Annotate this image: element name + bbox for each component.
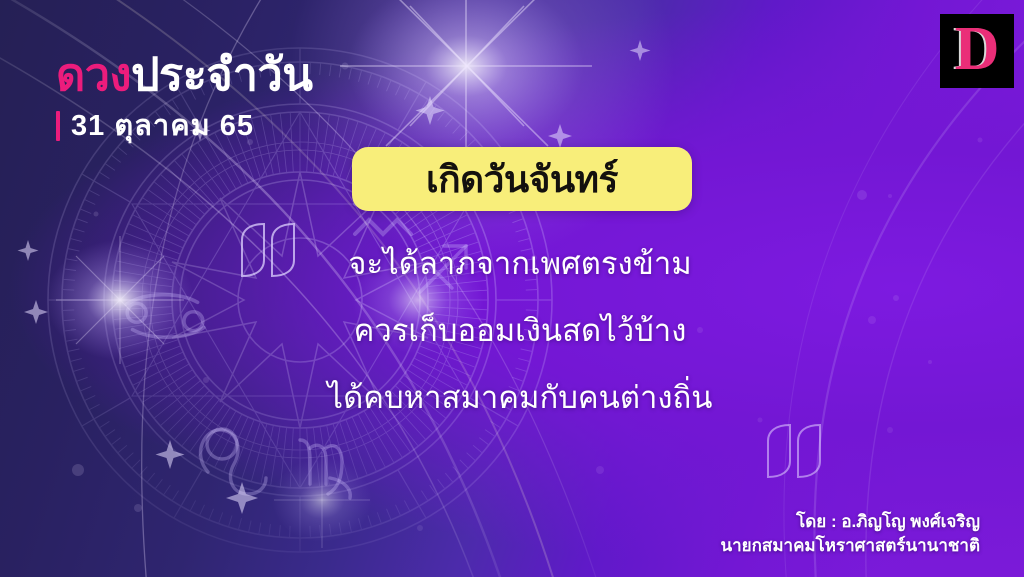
credit-affiliation: นายกสมาคมโหราศาสตร์นานาชาติ	[721, 534, 980, 559]
logo-letter-d: D	[955, 18, 1000, 80]
credit-author: โดย : อ.ภิญโญ พงศ์เจริญ	[721, 510, 980, 535]
date-accent-bar	[56, 111, 60, 141]
forecast-lines: จะได้ลาภจากเพศตรงข้าม ควรเก็บออมเงินสดไว…	[280, 248, 760, 413]
date-row: 31 ตุลาคม 65	[56, 111, 313, 141]
date-text: 31 ตุลาคม 65	[71, 112, 254, 141]
zodiac-glyph-leo	[201, 429, 266, 494]
credit-block: โดย : อ.ภิญโญ พงศ์เจริญ นายกสมาคมโหราศาส…	[721, 510, 980, 559]
forecast-line: ควรเก็บออมเงินสดไว้บ้าง	[280, 315, 760, 346]
zodiac-glyph-cancer	[126, 295, 204, 338]
day-badge-label: เกิดวันจันทร์	[426, 161, 618, 198]
header-block: ดวงประจำวัน 31 ตุลาคม 65	[56, 52, 313, 141]
forecast-line: จะได้ลาภจากเพศตรงข้าม	[280, 248, 760, 279]
brand-logo[interactable]: D	[940, 14, 1014, 88]
page-title-rest: ประจำวัน	[131, 49, 313, 100]
day-badge: เกิดวันจันทร์	[352, 147, 692, 211]
page-title: ดวงประจำวัน	[56, 52, 313, 97]
zodiac-glyph-virgo	[300, 440, 350, 498]
close-quote-icon	[764, 423, 824, 484]
horoscope-card: ดวงประจำวัน 31 ตุลาคม 65 D เกิดวันจันทร์…	[0, 0, 1024, 577]
forecast-line: ได้คบหาสมาคมกับคนต่างถิ่น	[280, 382, 760, 413]
page-title-highlight: ดวง	[56, 49, 131, 100]
